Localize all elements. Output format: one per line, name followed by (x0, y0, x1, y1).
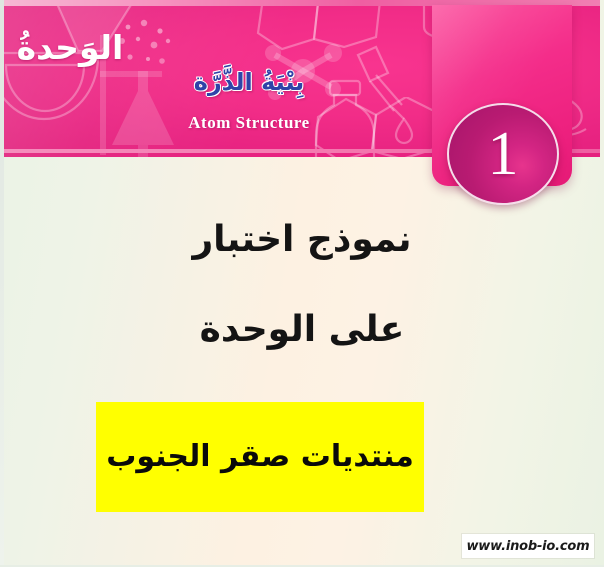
unit-number-badge: 1 (447, 103, 559, 205)
banner-title-arabic: بِنْيَةُ الذَّرَّة (154, 67, 344, 97)
highlight-box: منتديات صقر الجنوب (96, 402, 424, 512)
body-line-2: على الوحدة (0, 308, 604, 352)
worksheet-page: بِنْيَةُ الذَّرَّة Atom Structure الوَحد… (0, 0, 604, 567)
unit-number-value: 1 (449, 105, 557, 203)
body-line-1: نموذج اختبار (0, 218, 604, 262)
page-left-edge (0, 0, 4, 567)
watermark: www.inob-io.com (462, 534, 594, 558)
watermark-text: www.inob-io.com (467, 539, 590, 554)
highlight-text: منتديات صقر الجنوب (106, 438, 414, 476)
unit-tab-label: الوَحدةُ (0, 28, 140, 68)
banner-title-english: Atom Structure (154, 113, 344, 133)
